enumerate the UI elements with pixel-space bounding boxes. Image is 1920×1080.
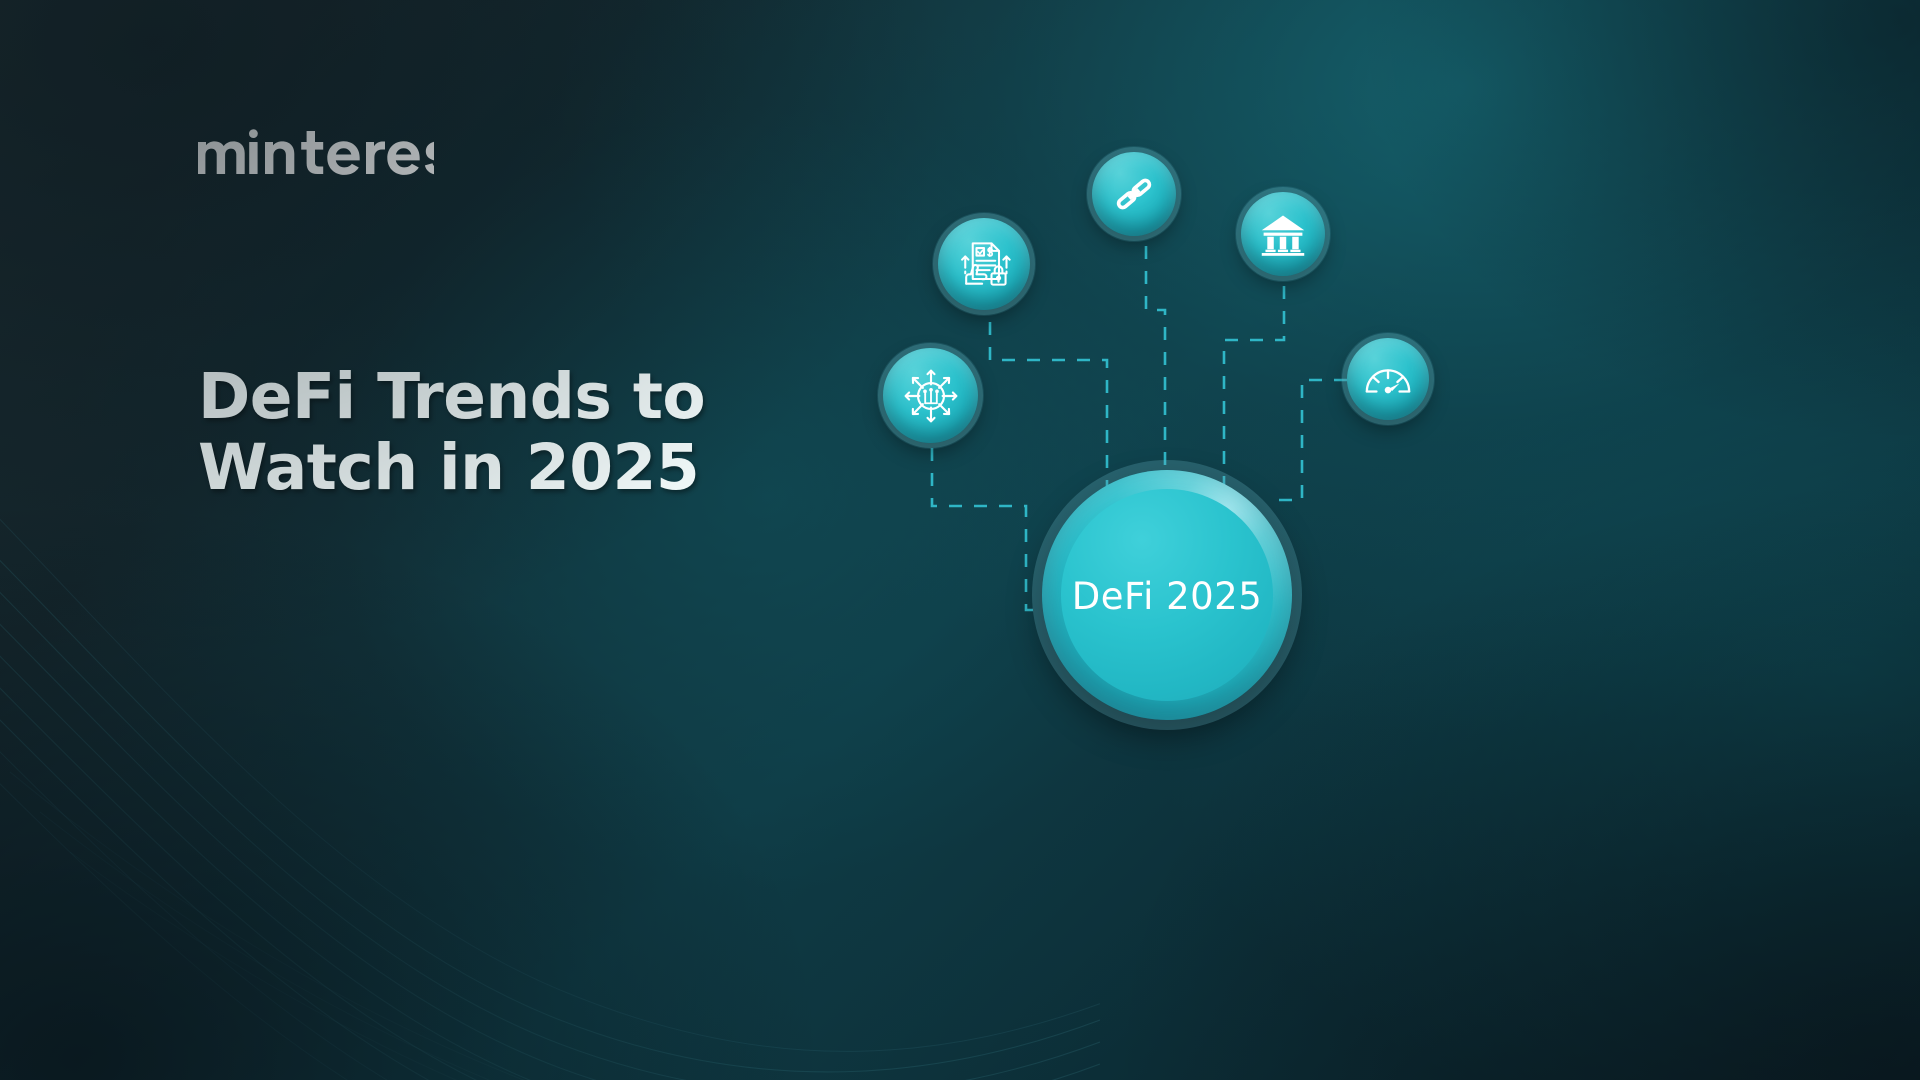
hub-inner-disc: DeFi 2025 [1061, 489, 1273, 701]
diagram-connectors [860, 110, 1820, 770]
chain-link-icon [1112, 172, 1156, 216]
diagram-hub[interactable]: DeFi 2025 [1042, 470, 1292, 720]
defi-trends-diagram: DeFi 2025 [860, 110, 1820, 770]
slide-canvas: DeFi Trends to Watch in 2025 [0, 0, 1920, 1080]
diagram-node-decentralized[interactable] [883, 348, 978, 443]
diagram-node-chain[interactable] [1092, 152, 1176, 236]
decentralized-network-icon [900, 365, 962, 427]
brand-logo[interactable] [196, 126, 434, 178]
bank-institution-icon [1259, 211, 1307, 257]
headline-line-2: Watch in 2025 [198, 433, 818, 504]
page-title: DeFi Trends to Watch in 2025 [198, 362, 818, 503]
headline-line-1: DeFi Trends to [198, 362, 818, 433]
contract-lock-dollar-icon [954, 234, 1014, 294]
gauge-meter-icon [1363, 359, 1413, 399]
diagram-node-contract[interactable] [938, 218, 1030, 310]
diagram-node-bank[interactable] [1241, 192, 1325, 276]
hub-label: DeFi 2025 [1072, 575, 1263, 618]
diagram-node-gauge[interactable] [1347, 338, 1429, 420]
